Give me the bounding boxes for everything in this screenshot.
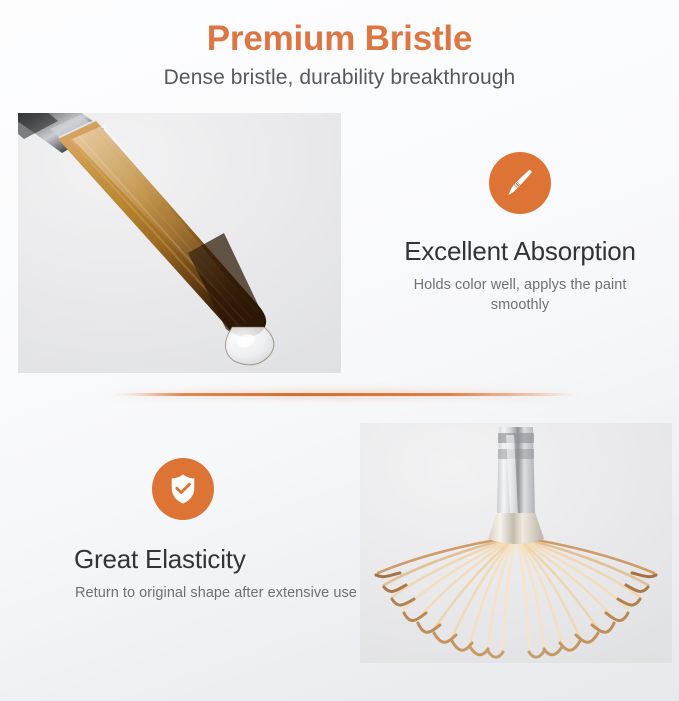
orange-gradient-divider [110, 393, 575, 396]
fan-brush-svg [360, 423, 672, 663]
shield-check-icon [165, 471, 201, 507]
brush-tip-svg [18, 113, 341, 373]
feature-title-elasticity: Great Elasticity [62, 544, 362, 575]
paintbrush-icon [502, 165, 538, 201]
infographic-page: Premium Bristle Dense bristle, durabilit… [0, 0, 679, 701]
header: Premium Bristle Dense bristle, durabilit… [0, 18, 679, 92]
page-title: Premium Bristle [0, 18, 679, 59]
fan-brush-illustration [360, 423, 672, 663]
feature-description-elasticity: Return to original shape after extensive… [62, 583, 362, 603]
paintbrush-icon-badge [489, 152, 551, 214]
brush-tip-photo [18, 113, 341, 373]
feature-excellent-absorption: Excellent Absorption Holds color well, a… [370, 152, 670, 315]
page-subtitle: Dense bristle, durability breakthrough [0, 65, 679, 91]
shield-check-icon-badge [152, 458, 214, 520]
feature-title-absorption: Excellent Absorption [370, 236, 670, 267]
feature-great-elasticity: Great Elasticity Return to original shap… [62, 458, 362, 603]
brush-tip-illustration [18, 113, 341, 373]
feature-description-absorption: Holds color well, applys the paint smoot… [370, 275, 670, 315]
fan-brush-photo [360, 423, 672, 663]
